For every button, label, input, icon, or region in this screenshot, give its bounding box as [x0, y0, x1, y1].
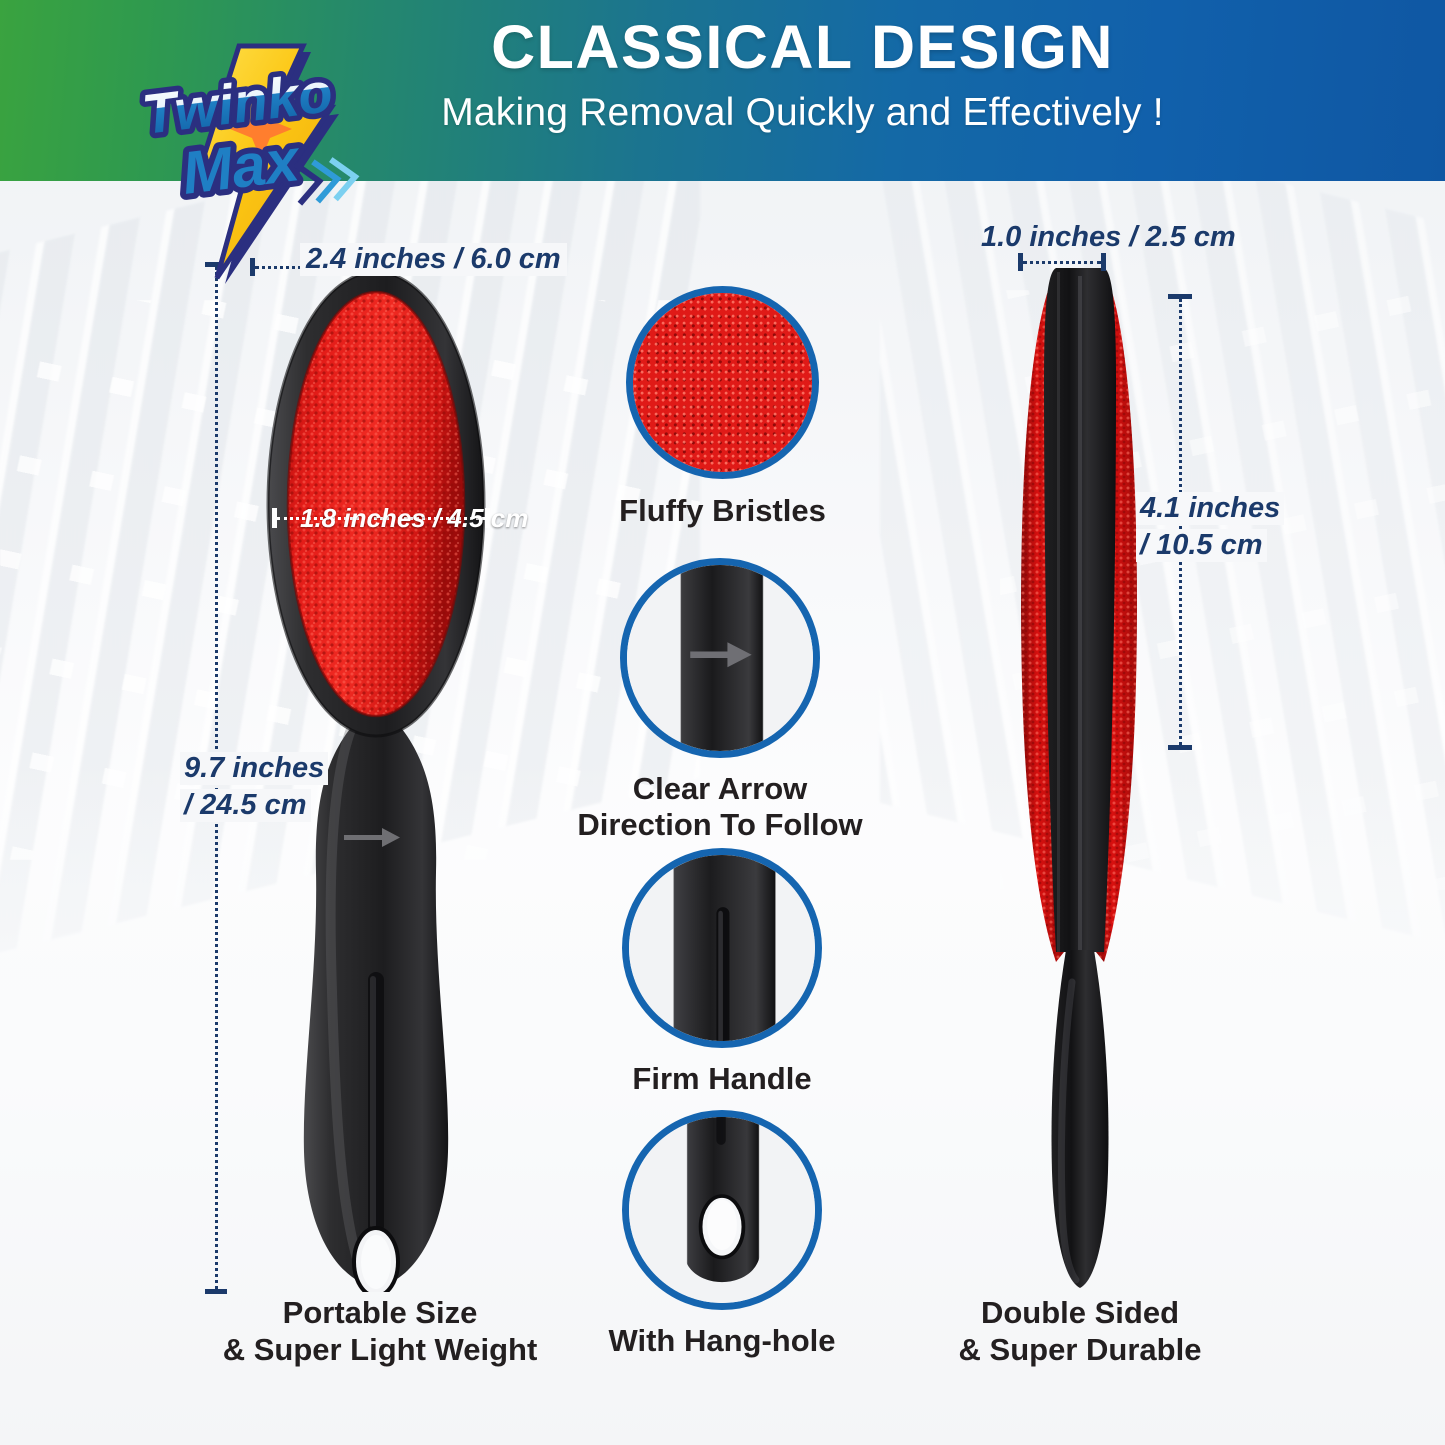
- bottom-caption-right-line1: Double Sided: [905, 1294, 1255, 1331]
- dimension-side-thickness: [1018, 253, 1106, 271]
- callout-circle-fluffy-bristles: [626, 286, 819, 479]
- callout-clear-arrow: Clear Arrow Direction To Follow: [620, 558, 820, 848]
- logo-text-max: Max: [178, 126, 305, 207]
- callout-hang-hole: With Hang-hole: [622, 1110, 822, 1372]
- callout-circle-hang-hole: [622, 1110, 822, 1310]
- dimension-head-height-label-line1: 4.1 inches: [1136, 492, 1284, 525]
- brand-logo: Twinko Twinko Max Max: [143, 42, 379, 282]
- callout-caption-clear-arrow-line1: Clear Arrow: [510, 771, 930, 807]
- dimension-total-height-label-line1: 9.7 inches: [180, 752, 328, 785]
- bristle-texture: [633, 293, 812, 472]
- dimension-head-height-label-line2: / 10.5 cm: [1136, 529, 1267, 562]
- callout-caption-fluffy-bristles: Fluffy Bristles: [513, 493, 933, 529]
- handle-groove-end: [716, 1117, 725, 1145]
- bottom-caption-right: Double Sided & Super Durable: [905, 1294, 1255, 1368]
- callout-firm-handle: Firm Handle: [622, 848, 822, 1110]
- callout-fluffy-bristles: Fluffy Bristles: [626, 286, 819, 546]
- callout-circle-clear-arrow: [620, 558, 820, 758]
- bottom-caption-left: Portable Size & Super Light Weight: [195, 1294, 565, 1368]
- callout-caption-clear-arrow-line2: Direction To Follow: [510, 807, 930, 843]
- product-side-view: [1000, 262, 1160, 1292]
- side-center-seam: [1078, 276, 1082, 952]
- product-infographic: CLASSICAL DESIGN Making Removal Quickly …: [0, 0, 1445, 1445]
- dimension-side-thickness-label: 1.0 inches / 2.5 cm: [981, 221, 1236, 254]
- callout-caption-firm-handle: Firm Handle: [512, 1061, 932, 1097]
- bottom-caption-right-line2: & Super Durable: [905, 1331, 1255, 1368]
- callout-circle-firm-handle: [622, 848, 822, 1048]
- bottom-caption-left-line1: Portable Size: [195, 1294, 565, 1331]
- bottom-caption-left-line2: & Super Light Weight: [195, 1331, 565, 1368]
- dimension-pad-width-label: 1.8 inches / 4.5 cm: [300, 503, 528, 534]
- callout-caption-hang-hole: With Hang-hole: [512, 1323, 932, 1359]
- dimension-total-height-label-line2: / 24.5 cm: [180, 789, 311, 822]
